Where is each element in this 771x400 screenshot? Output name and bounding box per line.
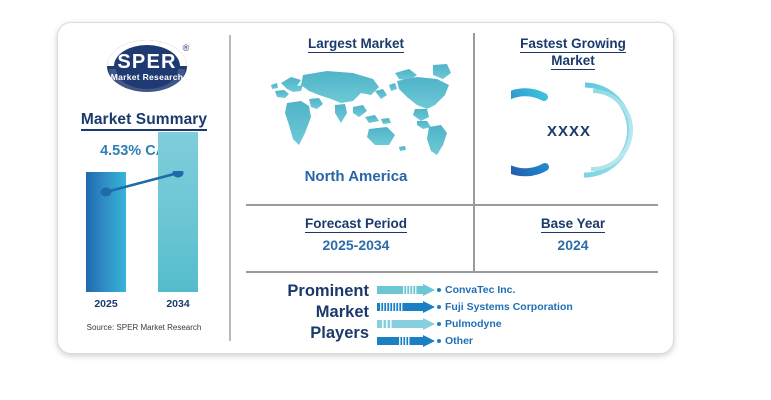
list-item: Other	[377, 332, 671, 349]
donut-ring-svg: XXXX	[511, 71, 635, 189]
forecast-period-value: 2025-2034	[239, 237, 473, 253]
fastest-growing-title-line2: Market	[551, 53, 595, 70]
world-map-icon	[257, 61, 457, 161]
registered-mark-icon: ®	[183, 43, 190, 53]
logo-text: SPER	[117, 51, 176, 73]
player-arrow-icon	[377, 284, 435, 296]
players-label-line2: Market	[316, 303, 369, 321]
largest-market-title: Largest Market	[239, 35, 473, 52]
fastest-growing-title: Fastest Growing Market	[475, 35, 671, 69]
bar-label-2034: 2034	[156, 298, 200, 310]
prominent-players-list: ConvaTec Inc.	[377, 281, 671, 349]
market-summary-title-text: Market Summary	[81, 111, 207, 131]
trend-line	[58, 171, 230, 316]
list-item: Fuji Systems Corporation	[377, 298, 671, 315]
grid-hline-bottom	[246, 271, 658, 273]
world-map-svg	[257, 61, 457, 161]
players-label-line1: Prominent	[287, 282, 369, 300]
prominent-players-cell: Prominent Market Players	[239, 279, 671, 351]
forecast-period-title-text: Forecast Period	[305, 216, 407, 233]
metrics-grid: Largest Market	[231, 23, 673, 353]
market-summary-title: Market Summary	[58, 111, 230, 129]
player-name: Fuji Systems Corporation	[445, 301, 573, 313]
sper-logo-icon: SPER Market Research ®	[92, 35, 202, 97]
fastest-growing-title-line1: Fastest Growing	[520, 36, 626, 53]
largest-market-title-text: Largest Market	[308, 36, 404, 53]
player-name: Other	[445, 335, 473, 347]
forecast-period-cell: Forecast Period 2025-2034	[239, 215, 473, 269]
player-arrow-icon	[377, 318, 435, 330]
players-label-line3: Players	[310, 324, 369, 342]
bar-label-2025: 2025	[84, 298, 128, 310]
largest-market-cell: Largest Market	[239, 35, 473, 203]
prominent-players-label: Prominent Market Players	[239, 281, 369, 344]
forecast-period-title: Forecast Period	[239, 215, 473, 232]
market-summary-card: SPER Market Research ® Market Summary 4.…	[57, 22, 674, 354]
base-year-value: 2024	[475, 237, 671, 253]
base-year-cell: Base Year 2024	[475, 215, 671, 269]
player-bullet-icon	[437, 322, 441, 326]
fastest-growing-value: XXXX	[547, 123, 591, 140]
player-arrow-icon	[377, 335, 435, 347]
logo-subtext: Market Research	[111, 72, 184, 82]
base-year-title: Base Year	[475, 215, 671, 232]
player-bullet-icon	[437, 288, 441, 292]
market-summary-bar-chart: 2025 2034	[58, 171, 230, 316]
player-name: ConvaTec Inc.	[445, 284, 515, 296]
source-note: Source: SPER Market Research	[58, 323, 230, 332]
sper-logo: SPER Market Research ®	[92, 35, 202, 97]
list-item: ConvaTec Inc.	[377, 281, 671, 298]
grid-hline-top	[246, 204, 658, 206]
player-arrow-icon	[377, 301, 435, 313]
player-name: Pulmodyne	[445, 318, 502, 330]
infographic-root: SPER Market Research ® Market Summary 4.…	[0, 0, 771, 400]
player-bullet-icon	[437, 305, 441, 309]
fastest-growing-cell: Fastest Growing Market	[475, 35, 671, 203]
donut-ring-icon: XXXX	[511, 71, 635, 189]
base-year-title-text: Base Year	[541, 216, 605, 233]
list-item: Pulmodyne	[377, 315, 671, 332]
largest-market-value: North America	[239, 168, 473, 185]
player-bullet-icon	[437, 339, 441, 343]
cagr-value: 4.53% CAGR	[58, 143, 230, 159]
left-summary-panel: SPER Market Research ® Market Summary 4.…	[58, 23, 230, 353]
